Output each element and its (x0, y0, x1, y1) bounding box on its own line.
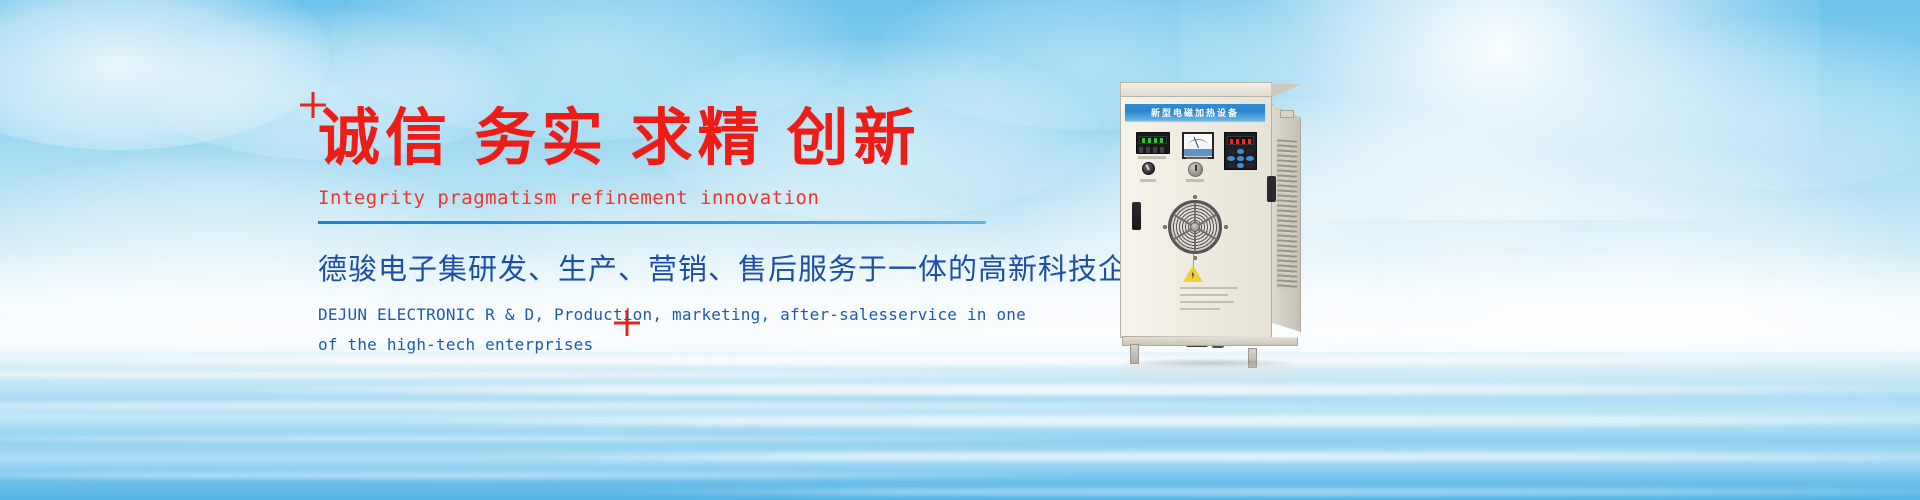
water-streak (0, 472, 1114, 479)
ground-reflection (1126, 364, 1294, 390)
keypad-key (1227, 156, 1235, 161)
keypad-key (1227, 163, 1235, 168)
water-streak (192, 384, 1920, 395)
fan-bolt (1193, 195, 1197, 199)
fan-hub (1190, 222, 1200, 232)
banner-copy: 诚信 务实 求精 创新 Integrity pragmatism refinem… (318, 104, 1038, 360)
keypad-key (1237, 156, 1245, 161)
fan-bolt (1163, 225, 1167, 229)
knob-caption (1140, 179, 1156, 182)
tagline-english-line2: of the high-tech enterprises (318, 330, 1038, 360)
instrument-caption (1138, 156, 1166, 159)
spec-line (1180, 287, 1238, 289)
sea-surface (0, 352, 1920, 500)
water-streak (461, 452, 1920, 461)
cloud (1380, 150, 1900, 350)
digital-controller (1136, 132, 1170, 154)
rotary-knob (1188, 162, 1203, 177)
keypad-display (1227, 136, 1254, 145)
side-label (1280, 110, 1294, 118)
keypad-key (1246, 163, 1254, 168)
product-name-plate: 新型电磁加热设备 (1125, 104, 1265, 121)
water-streak (0, 436, 1190, 442)
water-streak (576, 488, 1920, 496)
fan-grille (1168, 200, 1222, 254)
meter-label (1184, 149, 1212, 156)
keypad-key (1246, 156, 1254, 161)
tagline-english-line1: DEJUN ELECTRONIC R & D, Production, mark… (318, 305, 1026, 324)
keypad-keys (1227, 149, 1254, 168)
knob-caption (1186, 179, 1204, 182)
warning-triangle-icon (1183, 265, 1203, 282)
hero-banner: 诚信 务实 求精 创新 Integrity pragmatism refinem… (0, 0, 1920, 500)
fan-bolt (1224, 225, 1228, 229)
controller-buttons (1139, 147, 1167, 153)
keypad-key (1237, 149, 1245, 154)
spec-line (1180, 294, 1228, 296)
door-handle (1267, 176, 1276, 202)
tagline-chinese: 德骏电子集研发、生产、营销、售后服务于一体的高新科技企业 (318, 246, 1038, 288)
water-streak (0, 372, 1152, 378)
cloud (0, 0, 330, 150)
headline-english: Integrity pragmatism refinement innovati… (318, 187, 1038, 209)
ventilation-louvers (1277, 139, 1297, 290)
spec-line (1180, 308, 1220, 310)
divider (318, 221, 986, 224)
vertical-slot (1132, 202, 1141, 230)
spec-line (1180, 301, 1234, 303)
page-title: 诚信 务实 求精 创新 (318, 104, 1038, 173)
led-keypad (1224, 132, 1257, 170)
controller-display (1139, 136, 1167, 144)
cloud (1560, 20, 1920, 190)
spec-text-block (1180, 287, 1242, 315)
keypad-key (1227, 149, 1235, 154)
instrument-caption (1186, 156, 1208, 159)
analog-meter (1182, 132, 1214, 159)
keypad-key (1237, 163, 1245, 168)
product-image-industrial-cabinet: 新型电磁加热设备 (1120, 82, 1300, 360)
water-streak (0, 402, 1421, 409)
selector-knob (1142, 162, 1155, 175)
tagline-english: DEJUN ELECTRONIC R & D, Production, mark… (318, 300, 1038, 359)
water-streak (346, 416, 1920, 426)
cabinet-base (1122, 336, 1298, 346)
cabinet-top-bevel (1271, 84, 1301, 98)
keypad-key (1246, 149, 1254, 154)
